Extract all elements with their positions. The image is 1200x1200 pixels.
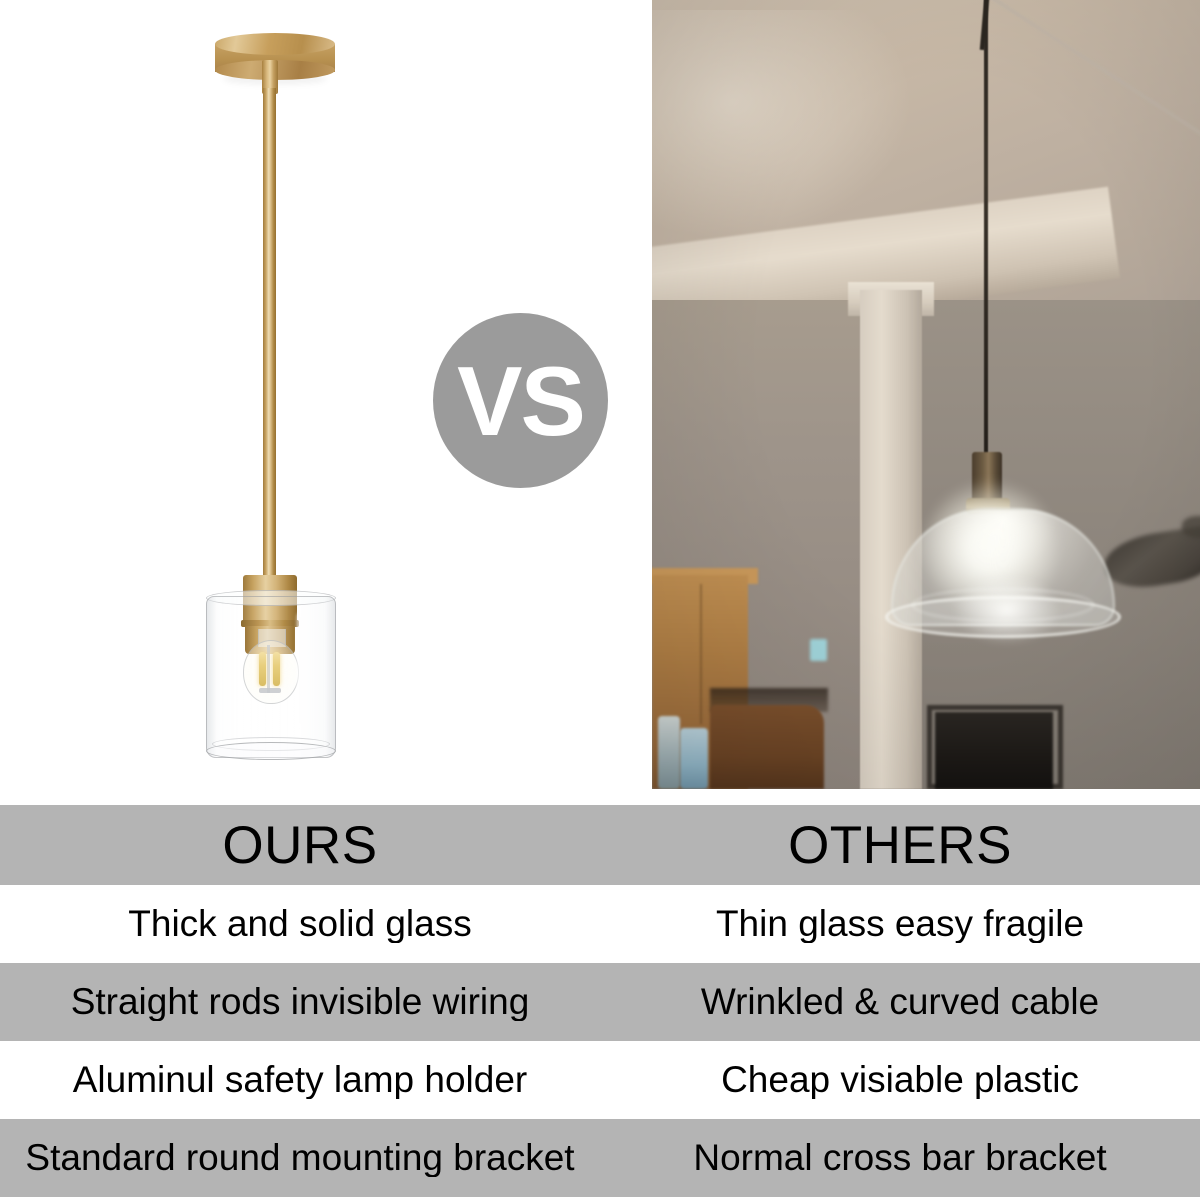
photo-bottle: [680, 728, 708, 789]
photo-bottle: [658, 716, 680, 789]
photo-counter: [710, 705, 824, 789]
table-row: Straight rods invisible wiring Wrinkled …: [0, 963, 1200, 1041]
cell-ours: Aluminul safety lamp holder: [0, 1061, 600, 1100]
photo-wall-column: [860, 290, 922, 789]
comparison-infographic: VS: [0, 0, 1200, 1200]
bulb-icon: [243, 640, 299, 704]
cell-others: Wrinkled & curved cable: [600, 983, 1200, 1022]
column-header-others: OTHERS: [600, 819, 1200, 872]
cell-others: Thin glass easy fragile: [600, 905, 1200, 944]
filament-stem-icon: [267, 645, 270, 693]
others-product-photo: [652, 0, 1200, 789]
cell-ours: Straight rods invisible wiring: [0, 983, 600, 1022]
column-header-ours: OURS: [0, 819, 600, 872]
filament-icon: [259, 652, 266, 686]
photo-light-flare: [952, 575, 1062, 645]
comparison-table: OURS OTHERS Thick and solid glass Thin g…: [0, 805, 1200, 1200]
table-row: Thick and solid glass Thin glass easy fr…: [0, 885, 1200, 963]
filament-icon: [273, 652, 280, 686]
vs-badge: VS: [433, 313, 608, 488]
cell-others: Normal cross bar bracket: [600, 1139, 1200, 1178]
photo-ceiling-fan-hub: [1182, 516, 1200, 538]
table-row: Standard round mounting bracket Normal c…: [0, 1119, 1200, 1197]
photo-hanging-cable: [984, 0, 988, 460]
photo-screen: [935, 712, 1053, 789]
vs-label: VS: [457, 352, 584, 450]
table-row: Aluminul safety lamp holder Cheap visiab…: [0, 1041, 1200, 1119]
cell-ours: Thick and solid glass: [0, 905, 600, 944]
top-image-area: VS: [0, 0, 1200, 800]
cell-ours: Standard round mounting bracket: [0, 1139, 600, 1178]
table-header-row: OURS OTHERS: [0, 805, 1200, 885]
cell-others: Cheap visiable plastic: [600, 1061, 1200, 1100]
filament-cap-icon: [259, 688, 281, 693]
photo-wall-outlet: [810, 639, 827, 661]
shade-bottom-rim-icon: [206, 742, 336, 760]
photo-ceiling-highlight: [652, 10, 912, 240]
photo-cabinet-seam: [700, 584, 702, 724]
down-rod-icon: [263, 88, 276, 576]
glass-highlight-icon: [297, 612, 306, 730]
